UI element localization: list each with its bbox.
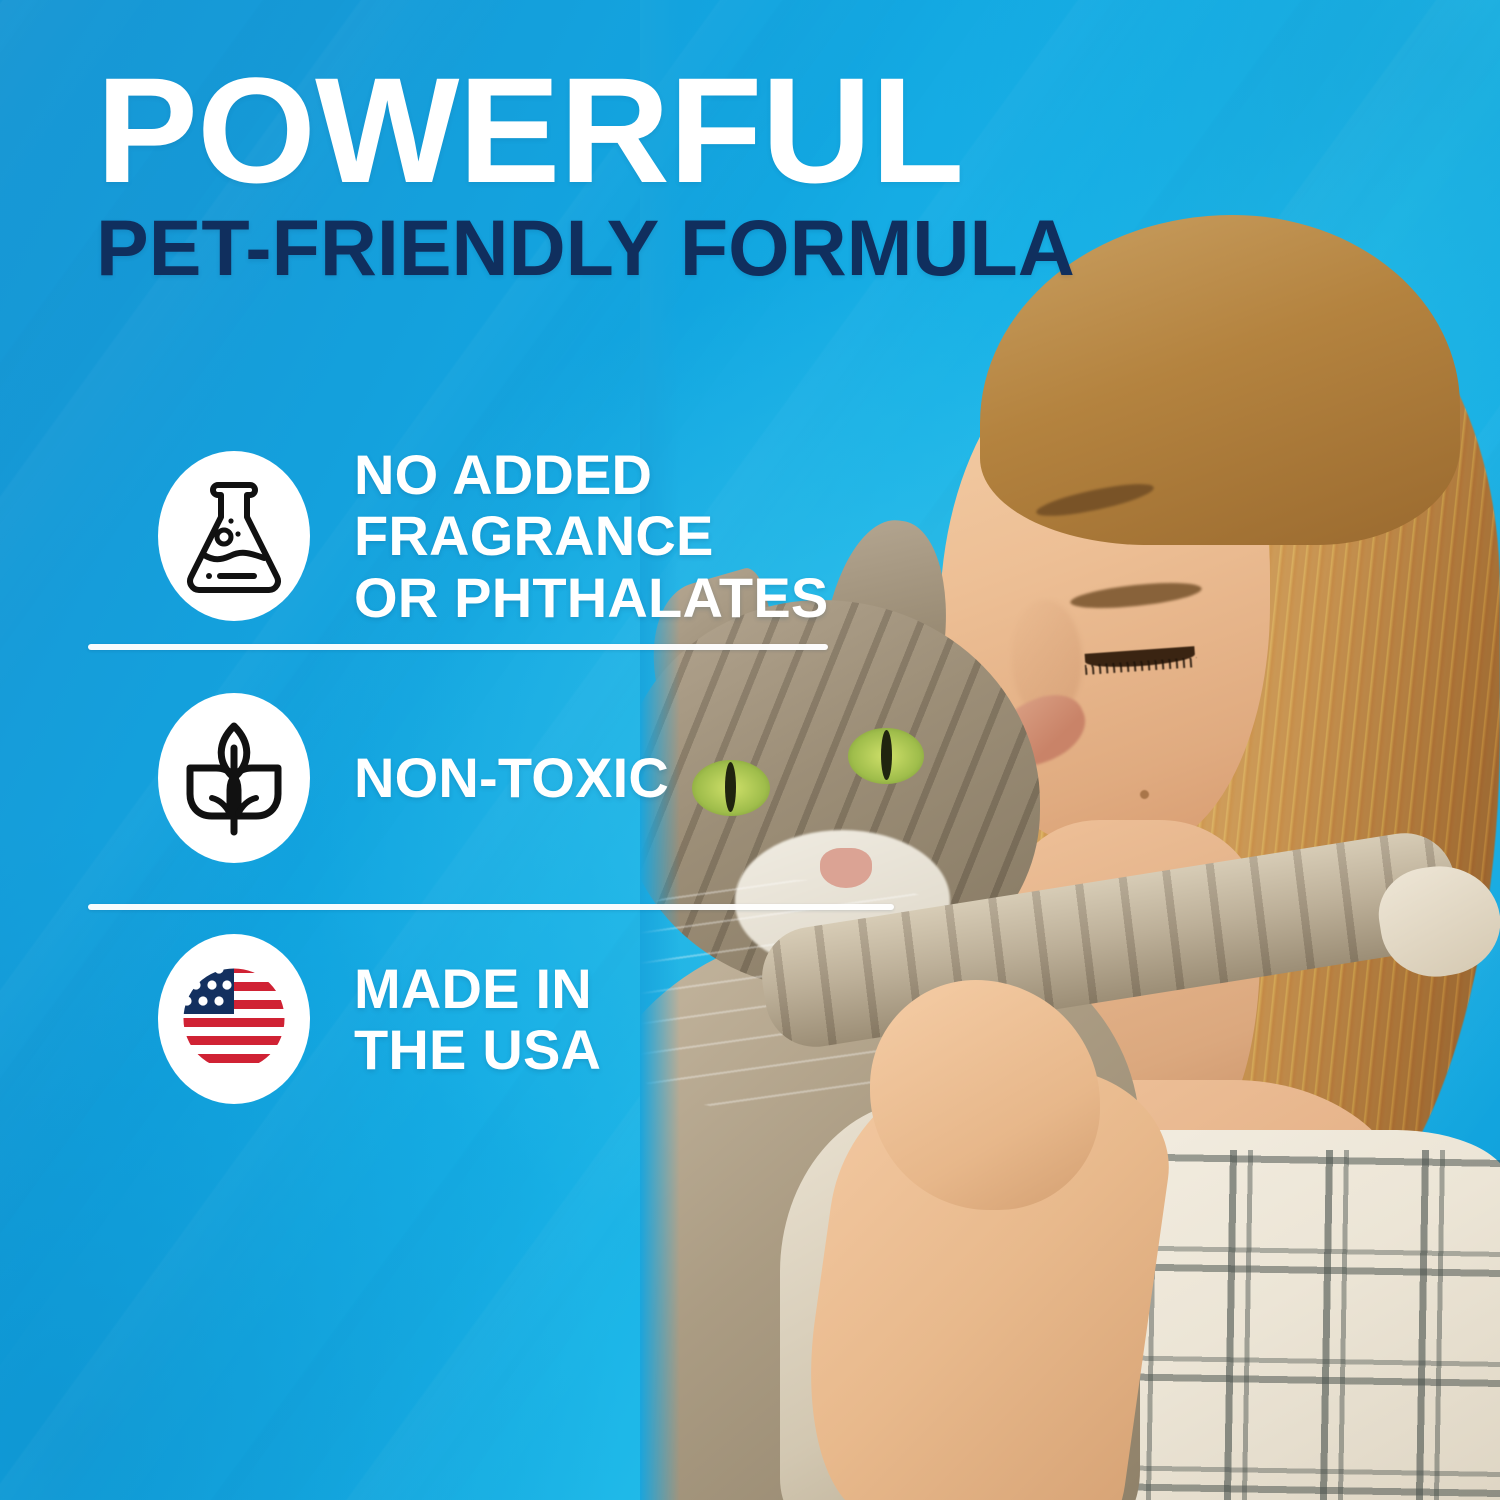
feature-list: NO ADDED FRAGRANCE OR PHTHALATES NON-TOX… — [88, 432, 948, 1124]
feature-divider-2 — [88, 904, 894, 910]
usa-flag-icon — [158, 934, 310, 1104]
headline-block: POWERFUL PET-FRIENDLY FORMULA — [96, 58, 1296, 287]
leaf-plant-icon — [158, 693, 310, 863]
marketing-banner: POWERFUL PET-FRIENDLY FORMULA NO ADDED F… — [0, 0, 1500, 1500]
feature-label: MADE IN THE USA — [354, 958, 601, 1080]
feature-divider-1 — [88, 644, 828, 650]
headline-main: POWERFUL — [96, 58, 1320, 204]
flask-icon — [158, 451, 310, 621]
feature-non-toxic: NON-TOXIC — [88, 654, 948, 902]
feature-label: NO ADDED FRAGRANCE OR PHTHALATES — [354, 444, 828, 627]
headline-sub: PET-FRIENDLY FORMULA — [96, 208, 1296, 287]
feature-no-added-fragrance: NO ADDED FRAGRANCE OR PHTHALATES — [88, 432, 948, 640]
feature-label: NON-TOXIC — [354, 747, 669, 808]
feature-made-in-usa: MADE IN THE USA — [88, 914, 948, 1124]
